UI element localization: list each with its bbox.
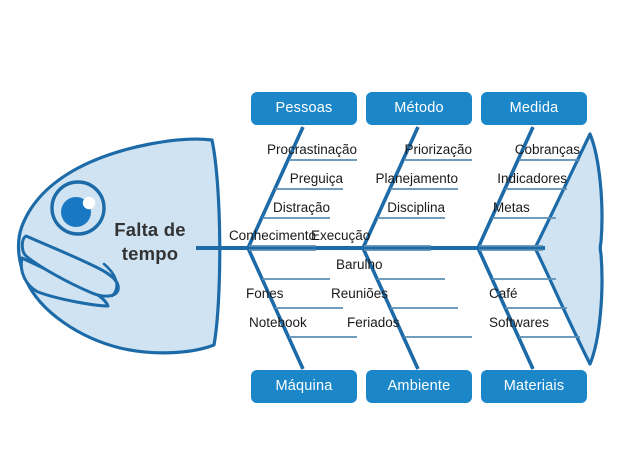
- category-box-medida[interactable]: Medida: [481, 92, 587, 125]
- category-box-ambiente[interactable]: Ambiente: [366, 370, 472, 403]
- cause-label-metodo-3[interactable]: Disciplina: [325, 201, 445, 215]
- category-box-metodo[interactable]: Método: [366, 92, 472, 125]
- cause-label-metodo-4[interactable]: Execução: [311, 229, 431, 243]
- category-box-maquina[interactable]: Máquina: [251, 370, 357, 403]
- problem-statement: Falta de tempo: [95, 218, 205, 265]
- fishbone-diagram-canvas: Falta de tempo Pessoas Método Medida Máq…: [0, 0, 620, 465]
- category-box-materiais[interactable]: Materiais: [481, 370, 587, 403]
- cause-label-ambiente-2[interactable]: Reuniões: [331, 287, 451, 301]
- cause-label-pessoas-1[interactable]: Procrastinação: [237, 143, 357, 157]
- cause-label-pessoas-2[interactable]: Preguiça: [223, 172, 343, 186]
- cause-label-ambiente-1[interactable]: Barulho: [336, 258, 456, 272]
- cause-label-metodo-2[interactable]: Planejamento: [338, 172, 458, 186]
- cause-label-materiais-3[interactable]: Softwares: [489, 316, 609, 330]
- cause-label-materiais-2[interactable]: Café: [489, 287, 609, 301]
- cause-label-medida-1[interactable]: Cobranças: [460, 143, 580, 157]
- cause-label-medida-3[interactable]: Metas: [493, 201, 613, 215]
- cause-label-metodo-1[interactable]: Priorização: [352, 143, 472, 157]
- cause-label-pessoas-4[interactable]: Conhecimento: [196, 229, 316, 243]
- cause-label-pessoas-3[interactable]: Distração: [210, 201, 330, 215]
- fish-eye-highlight: [83, 197, 95, 209]
- category-box-pessoas[interactable]: Pessoas: [251, 92, 357, 125]
- cause-label-ambiente-3[interactable]: Feriados: [347, 316, 467, 330]
- cause-label-medida-2[interactable]: Indicadores: [447, 172, 567, 186]
